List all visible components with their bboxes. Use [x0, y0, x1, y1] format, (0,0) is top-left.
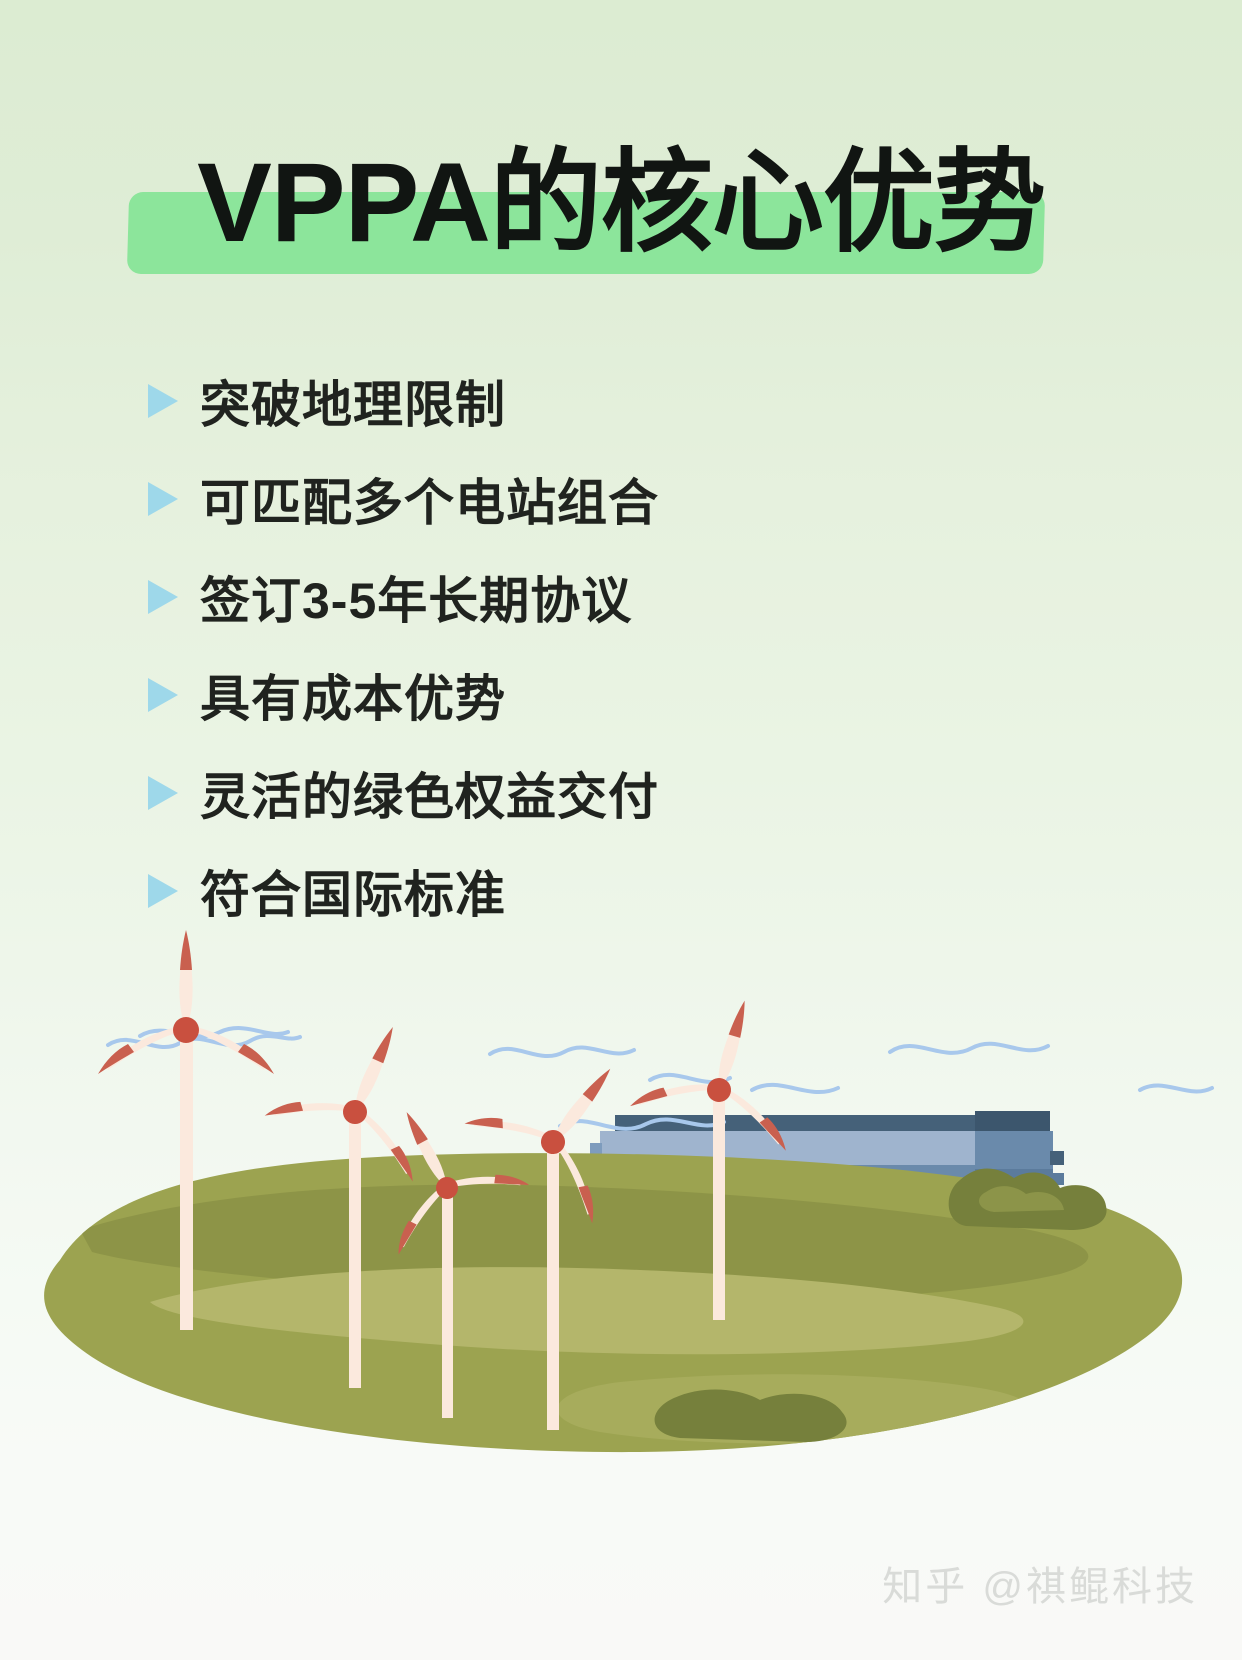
wind-farm-illustration	[0, 930, 1242, 1530]
list-item: 突破地理限制	[0, 352, 1242, 450]
list-item-label: 突破地理限制	[200, 365, 506, 437]
triangle-right-icon	[148, 384, 178, 418]
list-item: 灵活的绿色权益交付	[0, 744, 1242, 842]
list-item-label: 签订3-5年长期协议	[200, 561, 632, 633]
list-item-label: 灵活的绿色权益交付	[200, 757, 659, 829]
advantages-list: 突破地理限制 可匹配多个电站组合 签订3-5年长期协议 具有成本优势 灵活的绿色…	[0, 352, 1242, 940]
list-item-label: 具有成本优势	[200, 659, 506, 731]
triangle-right-icon	[148, 482, 178, 516]
ground-island	[44, 1153, 1182, 1452]
poster-canvas: VPPA的核心优势 突破地理限制 可匹配多个电站组合 签订3-5年长期协议 具有…	[0, 0, 1242, 1660]
list-item: 可匹配多个电站组合	[0, 450, 1242, 548]
triangle-right-icon	[148, 776, 178, 810]
triangle-right-icon	[148, 874, 178, 908]
title-text: VPPA的核心优势	[0, 118, 1242, 288]
list-item-label: 符合国际标准	[200, 855, 506, 927]
triangle-right-icon	[148, 678, 178, 712]
list-item: 符合国际标准	[0, 842, 1242, 940]
list-item: 签订3-5年长期协议	[0, 548, 1242, 646]
page-title: VPPA的核心优势	[0, 118, 1242, 288]
list-item-label: 可匹配多个电站组合	[200, 463, 659, 535]
triangle-right-icon	[148, 580, 178, 614]
watermark: 知乎 @祺鲲科技	[882, 1554, 1198, 1612]
list-item: 具有成本优势	[0, 646, 1242, 744]
